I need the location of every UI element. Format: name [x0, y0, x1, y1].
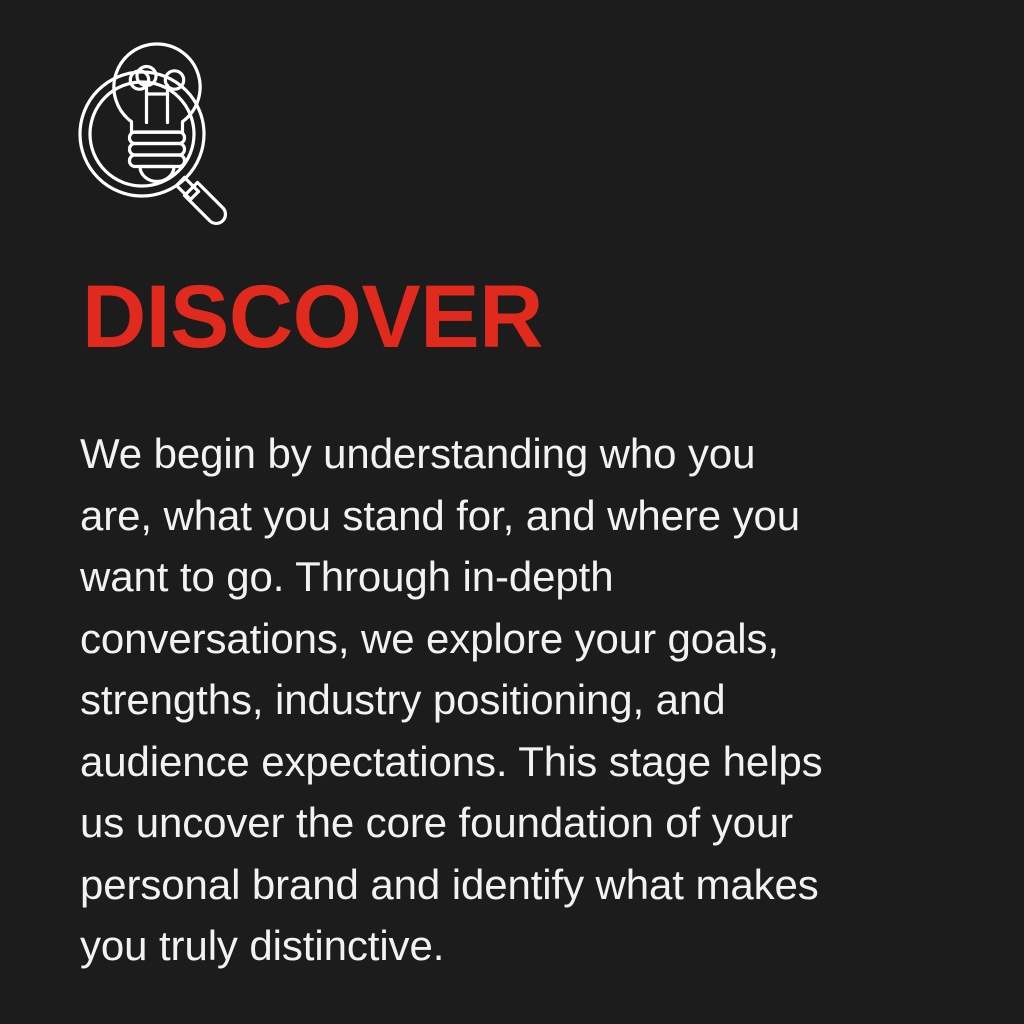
body-line: conversations, we explore your goals, — [80, 608, 910, 670]
body-line: strengths, industry positioning, and — [80, 669, 910, 731]
lightbulb-magnifier-icon — [72, 40, 244, 230]
body-line: us uncover the core foundation of your — [80, 792, 910, 854]
discover-card: DISCOVER We begin by understanding who y… — [0, 0, 1024, 1024]
body-line: you truly distinctive. — [80, 915, 910, 977]
page-title: DISCOVER — [82, 272, 543, 361]
body-line: want to go. Through in-depth — [80, 546, 910, 608]
body-paragraph: We begin by understanding who you are, w… — [80, 423, 910, 977]
body-line: audience expectations. This stage helps — [80, 731, 910, 793]
body-line: personal brand and identify what makes — [80, 854, 910, 916]
body-line: We begin by understanding who you — [80, 423, 910, 485]
body-line: are, what you stand for, and where you — [80, 485, 910, 547]
